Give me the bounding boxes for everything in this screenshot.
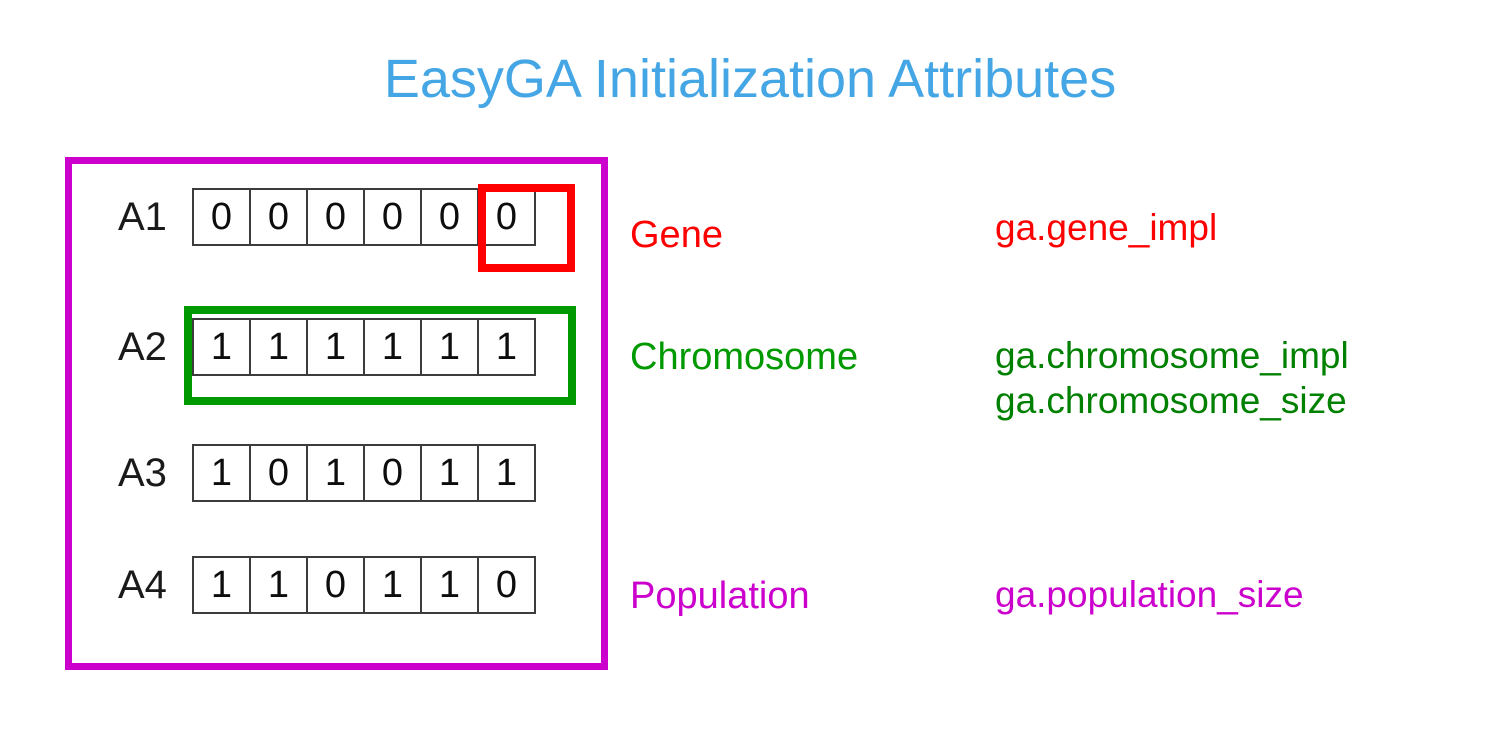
chromosome-cells: 0 0 0 0 0 0 xyxy=(192,188,536,246)
attribute-name: ga.population_size xyxy=(995,572,1304,617)
gene-cell[interactable]: 1 xyxy=(249,556,308,614)
chromosome-cells: 1 1 0 1 1 0 xyxy=(192,556,536,614)
gene-cell[interactable]: 1 xyxy=(420,444,479,502)
individual-label: A1 xyxy=(118,197,192,237)
gene-cell[interactable]: 1 xyxy=(477,444,536,502)
gene-cell[interactable]: 0 xyxy=(477,188,536,246)
page-title: EasyGA Initialization Attributes xyxy=(0,48,1500,110)
gene-cell[interactable]: 0 xyxy=(477,556,536,614)
attribute-name: ga.chromosome_impl xyxy=(995,333,1349,378)
legend-label-population: Population xyxy=(630,577,810,615)
individual-row-a3: A3 1 0 1 0 1 1 xyxy=(118,443,536,503)
gene-cell[interactable]: 1 xyxy=(249,318,308,376)
individual-row-a1: A1 0 0 0 0 0 0 xyxy=(118,187,536,247)
gene-cell[interactable]: 0 xyxy=(249,188,308,246)
gene-cell[interactable]: 0 xyxy=(306,188,365,246)
individual-label: A2 xyxy=(118,327,192,367)
gene-cell[interactable]: 1 xyxy=(363,556,422,614)
gene-cell[interactable]: 1 xyxy=(420,556,479,614)
gene-cell[interactable]: 0 xyxy=(363,188,422,246)
attribute-group-population: ga.population_size xyxy=(995,572,1304,617)
slide-canvas: EasyGA Initialization Attributes A1 0 0 … xyxy=(0,0,1500,729)
gene-cell[interactable]: 0 xyxy=(363,444,422,502)
legend-label-gene: Gene xyxy=(630,216,723,254)
gene-cell[interactable]: 1 xyxy=(192,444,251,502)
attribute-group-chromosome: ga.chromosome_impl ga.chromosome_size xyxy=(995,333,1349,423)
chromosome-cells: 1 1 1 1 1 1 xyxy=(192,318,536,376)
individual-label: A4 xyxy=(118,565,192,605)
gene-cell[interactable]: 1 xyxy=(192,556,251,614)
individual-label: A3 xyxy=(118,453,192,493)
gene-cell[interactable]: 1 xyxy=(363,318,422,376)
gene-cell[interactable]: 1 xyxy=(192,318,251,376)
gene-cell[interactable]: 0 xyxy=(192,188,251,246)
attribute-name: ga.gene_impl xyxy=(995,205,1217,250)
gene-cell[interactable]: 1 xyxy=(477,318,536,376)
gene-cell[interactable]: 0 xyxy=(420,188,479,246)
gene-cell[interactable]: 0 xyxy=(306,556,365,614)
individual-row-a4: A4 1 1 0 1 1 0 xyxy=(118,555,536,615)
chromosome-cells: 1 0 1 0 1 1 xyxy=(192,444,536,502)
gene-cell[interactable]: 1 xyxy=(306,444,365,502)
legend-label-chromosome: Chromosome xyxy=(630,338,858,376)
attribute-name: ga.chromosome_size xyxy=(995,378,1349,423)
attribute-group-gene: ga.gene_impl xyxy=(995,205,1217,250)
individual-row-a2: A2 1 1 1 1 1 1 xyxy=(118,317,536,377)
gene-cell[interactable]: 0 xyxy=(249,444,308,502)
gene-cell[interactable]: 1 xyxy=(306,318,365,376)
gene-cell[interactable]: 1 xyxy=(420,318,479,376)
